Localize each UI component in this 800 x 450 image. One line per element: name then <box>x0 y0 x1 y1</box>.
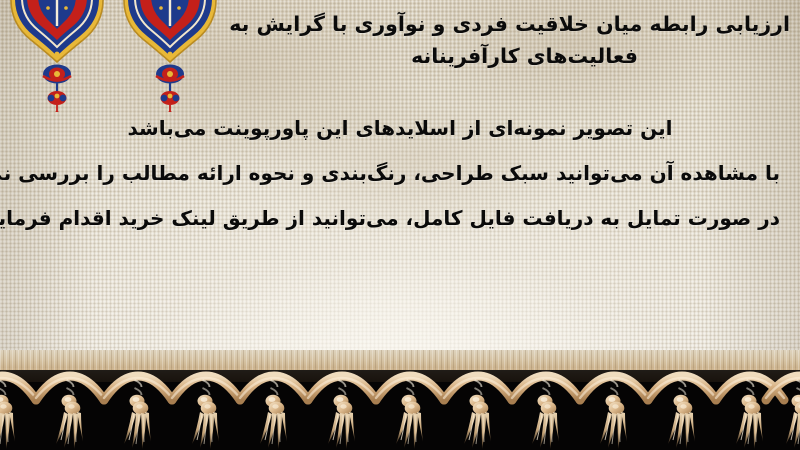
slide-title: ارزیابی رابطه میان خلاقیت فردی و نوآوری … <box>245 8 790 72</box>
title-line-1: ارزیابی رابطه میان خلاقیت فردی و نوآوری … <box>245 8 790 40</box>
body-line-3: در صورت تمایل به دریافت فایل کامل، می‌تو… <box>20 196 780 241</box>
title-line-2: فعالیت‌های کارآفرینانه <box>245 40 800 72</box>
body-line-1: این تصویر نمونه‌ای از اسلایدهای این پاور… <box>20 106 780 151</box>
slide-text-layer: ارزیابی رابطه میان خلاقیت فردی و نوآوری … <box>0 0 800 450</box>
body-line-2: با مشاهده آن می‌توانید سبک طراحی، رنگ‌بن… <box>20 151 780 196</box>
presentation-slide: ارزیابی رابطه میان خلاقیت فردی و نوآوری … <box>0 0 800 450</box>
slide-body: این تصویر نمونه‌ای از اسلایدهای این پاور… <box>20 106 780 241</box>
